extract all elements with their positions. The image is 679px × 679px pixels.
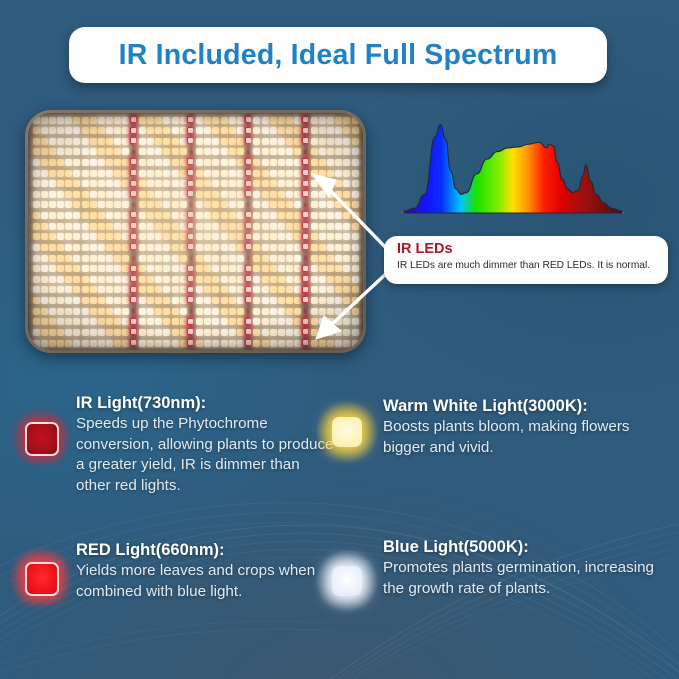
ir-light-title: IR Light(730nm): [76, 393, 338, 413]
red-light-text: RED Light(660nm): Yields more leaves and… [76, 540, 358, 602]
ir-light-swatch [25, 422, 59, 456]
led-panel-edge [28, 113, 363, 350]
ir-light-text: IR Light(730nm): Speeds up the Phytochro… [76, 393, 338, 496]
led-panel [25, 110, 366, 353]
warm-white-title: Warm White Light(3000K): [383, 396, 665, 416]
ir-leds-callout: IR LEDs IR LEDs are much dimmer than RED… [384, 236, 668, 284]
red-light-swatch [25, 562, 59, 596]
page-title: IR Included, Ideal Full Spectrum [69, 27, 607, 83]
blue-light-text: Blue Light(5000K): Promotes plants germi… [383, 537, 665, 599]
warm-white-swatch [332, 417, 362, 447]
page-title-text: IR Included, Ideal Full Spectrum [119, 39, 558, 72]
ir-light-swatch-wrap [18, 415, 62, 459]
red-light-title: RED Light(660nm): [76, 540, 358, 560]
blue-light-body: Promotes plants germination, increasing … [383, 558, 665, 599]
ir-light-body: Speeds up the Phytochrome conversion, al… [76, 414, 338, 496]
callout-title: IR LEDs [397, 241, 657, 258]
blue-light-title: Blue Light(5000K): [383, 537, 665, 557]
blue-light-swatch-wrap [325, 559, 369, 603]
red-light-swatch-wrap [18, 555, 62, 599]
infographic-canvas: IR Included, Ideal Full Spectrum [0, 0, 679, 679]
warm-white-swatch-wrap [325, 410, 369, 454]
led-panel-face [28, 113, 363, 350]
warm-white-text: Warm White Light(3000K): Boosts plants b… [383, 396, 665, 458]
warm-white-body: Boosts plants bloom, making flowers bigg… [383, 417, 665, 458]
spectrum-chart [398, 112, 628, 224]
callout-description: IR LEDs are much dimmer than RED LEDs. I… [397, 259, 657, 273]
blue-light-swatch [332, 566, 362, 596]
